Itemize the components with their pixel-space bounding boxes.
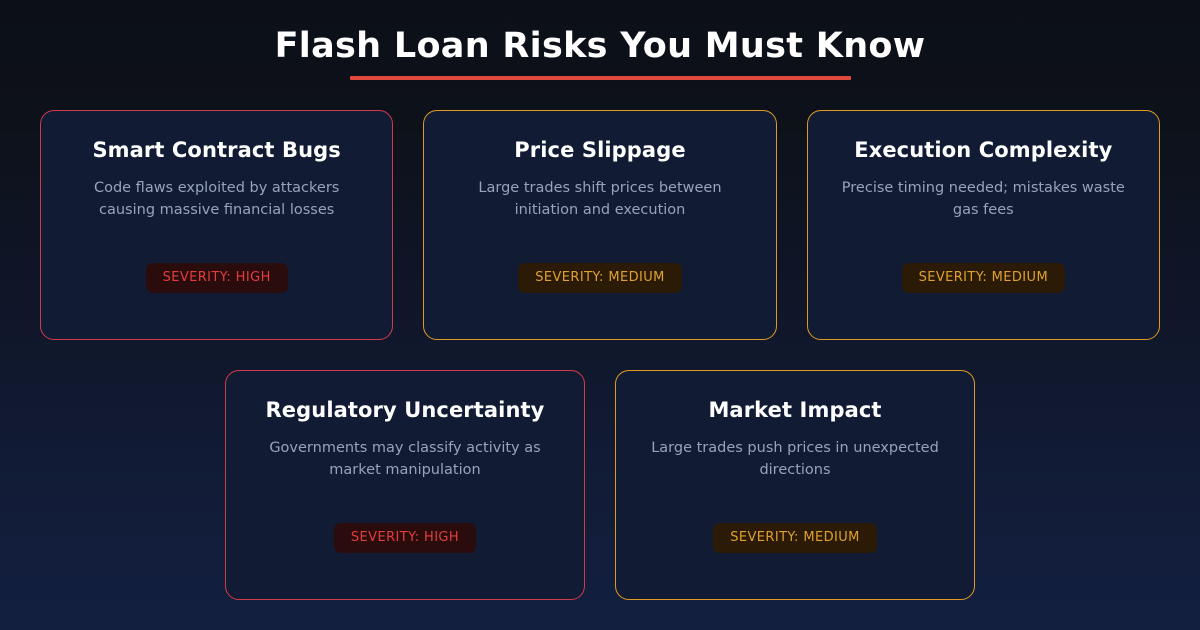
risk-card-description: Governments may classify activity as mar… bbox=[255, 437, 555, 481]
risk-card-title: Price Slippage bbox=[514, 137, 685, 163]
severity-badge: SEVERITY: HIGH bbox=[146, 263, 288, 293]
risk-card-row-top: Smart Contract Bugs Code flaws exploited… bbox=[40, 110, 1160, 340]
title-underline-rule bbox=[350, 76, 851, 80]
severity-badge: SEVERITY: MEDIUM bbox=[518, 263, 682, 293]
header: Flash Loan Risks You Must Know bbox=[0, 24, 1200, 80]
risk-card-smart-contract-bugs[interactable]: Smart Contract Bugs Code flaws exploited… bbox=[40, 110, 393, 340]
severity-badge: SEVERITY: HIGH bbox=[334, 523, 476, 553]
risk-card-title: Market Impact bbox=[708, 397, 881, 423]
risk-card-execution-complexity[interactable]: Execution Complexity Precise timing need… bbox=[807, 110, 1160, 340]
severity-badge: SEVERITY: MEDIUM bbox=[713, 523, 877, 553]
risk-card-price-slippage[interactable]: Price Slippage Large trades shift prices… bbox=[423, 110, 776, 340]
risk-card-description: Precise timing needed; mistakes waste ga… bbox=[833, 177, 1133, 221]
risk-card-description: Large trades push prices in unexpected d… bbox=[645, 437, 945, 481]
severity-badge: SEVERITY: MEDIUM bbox=[902, 263, 1066, 293]
risk-card-market-impact[interactable]: Market Impact Large trades push prices i… bbox=[615, 370, 975, 600]
risk-card-title: Smart Contract Bugs bbox=[92, 137, 340, 163]
risk-card-row-bottom: Regulatory Uncertainty Governments may c… bbox=[40, 370, 1160, 600]
risk-card-title: Regulatory Uncertainty bbox=[266, 397, 545, 423]
infographic-canvas: Flash Loan Risks You Must Know Smart Con… bbox=[0, 0, 1200, 630]
risk-card-description: Code flaws exploited by attackers causin… bbox=[67, 177, 367, 221]
risk-card-regulatory-uncertainty[interactable]: Regulatory Uncertainty Governments may c… bbox=[225, 370, 585, 600]
risk-card-description: Large trades shift prices between initia… bbox=[450, 177, 750, 221]
risk-card-grid: Smart Contract Bugs Code flaws exploited… bbox=[40, 110, 1160, 600]
risk-card-title: Execution Complexity bbox=[854, 137, 1112, 163]
page-title: Flash Loan Risks You Must Know bbox=[0, 24, 1200, 68]
